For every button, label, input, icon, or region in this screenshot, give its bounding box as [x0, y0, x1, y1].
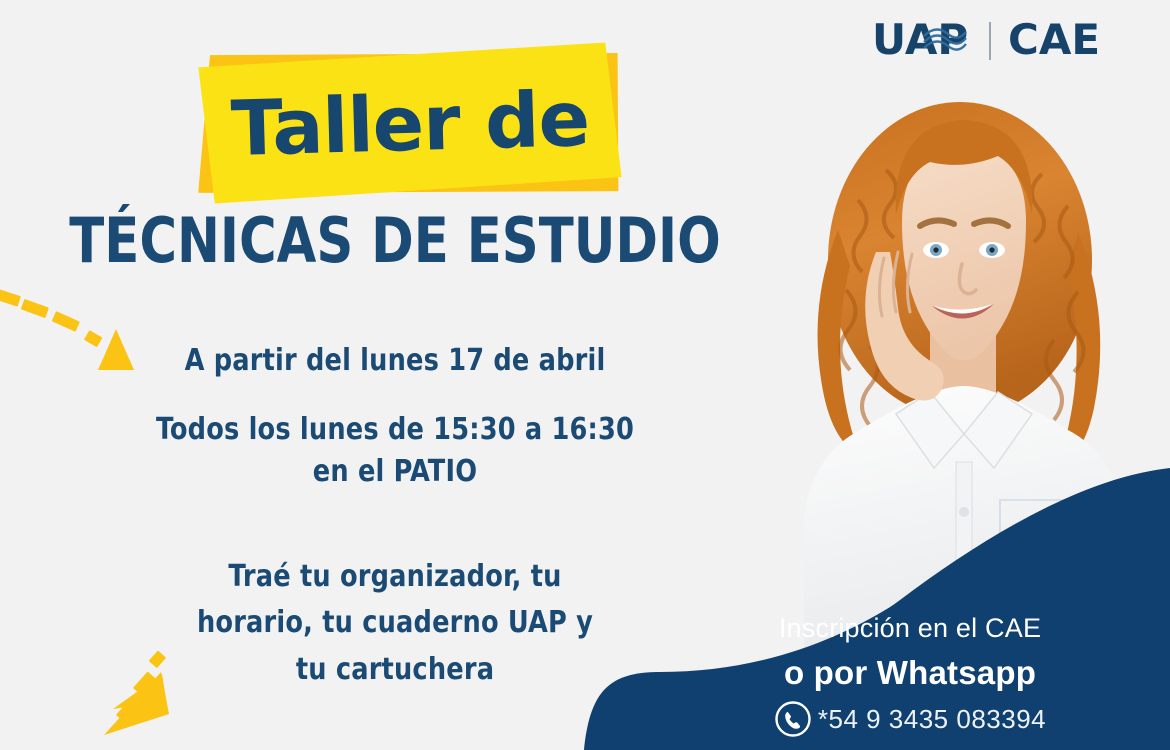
hair-fringe	[896, 120, 1032, 214]
phone-handset-icon[interactable]	[774, 700, 812, 738]
eyebrow-left	[920, 220, 954, 226]
mouth	[932, 304, 994, 319]
title-highlight-text: Taller de	[198, 42, 622, 204]
hair-curls	[840, 170, 1083, 426]
hand-on-cheek	[865, 252, 943, 400]
phone-number-text[interactable]: *54 9 3435 083394	[818, 704, 1046, 735]
brand-logo: UAP CAE	[872, 18, 1112, 64]
schedule-place-line: en el PATIO	[20, 451, 771, 494]
contact-block: Inscripción en el CAE o por Whatsapp *54…	[680, 613, 1170, 750]
eyes	[923, 242, 1005, 258]
yellow-dashed-curve-top	[0, 288, 102, 347]
shirt-collar-right	[964, 392, 1032, 468]
neck	[930, 330, 996, 419]
title-block: Taller de TÉCNICAS DE ESTUDIO	[0, 48, 790, 277]
bring-line-2: horario, tu cuaderno UAP y	[20, 600, 771, 647]
hair-back	[828, 102, 1092, 418]
nose	[959, 264, 976, 294]
hair-side-right	[1056, 232, 1100, 470]
bring-line-3: tu cartuchera	[20, 647, 771, 694]
logo-cae-text: CAE	[1008, 18, 1100, 64]
phone-row[interactable]: *54 9 3435 083394	[680, 700, 1140, 738]
flyer-canvas: UAP CAE Taller de TÉCNICAS DE ESTUDIO A …	[0, 0, 1170, 750]
hair-side-left	[818, 230, 860, 456]
shirt-pocket	[1000, 500, 1062, 556]
schedule-start-line: A partir del lunes 17 de abril	[20, 340, 771, 383]
copy-block: A partir del lunes 17 de abril Todos los…	[0, 340, 790, 693]
taller-highlight-card: Taller de	[200, 48, 620, 198]
bring-list: Traé tu organizador, tu horario, tu cuad…	[0, 554, 790, 694]
logo-uap-text: UAP	[872, 18, 968, 64]
schedule-time-line: Todos los lunes de 15:30 a 16:30	[20, 409, 771, 452]
eyebrow-right	[974, 220, 1008, 226]
teeth	[934, 304, 992, 314]
inscription-line: Inscripción en el CAE	[680, 613, 1140, 644]
schedule-info: A partir del lunes 17 de abril Todos los…	[0, 340, 790, 494]
whatsapp-line: o por Whatsapp	[680, 654, 1140, 692]
page-title: TÉCNICAS DE ESTUDIO	[32, 204, 759, 277]
uap-cae-logo-mark: UAP CAE	[872, 18, 1112, 64]
bring-line-1: Traé tu organizador, tu	[20, 554, 771, 601]
shirt-collar-left	[896, 392, 964, 468]
face	[902, 148, 1026, 360]
